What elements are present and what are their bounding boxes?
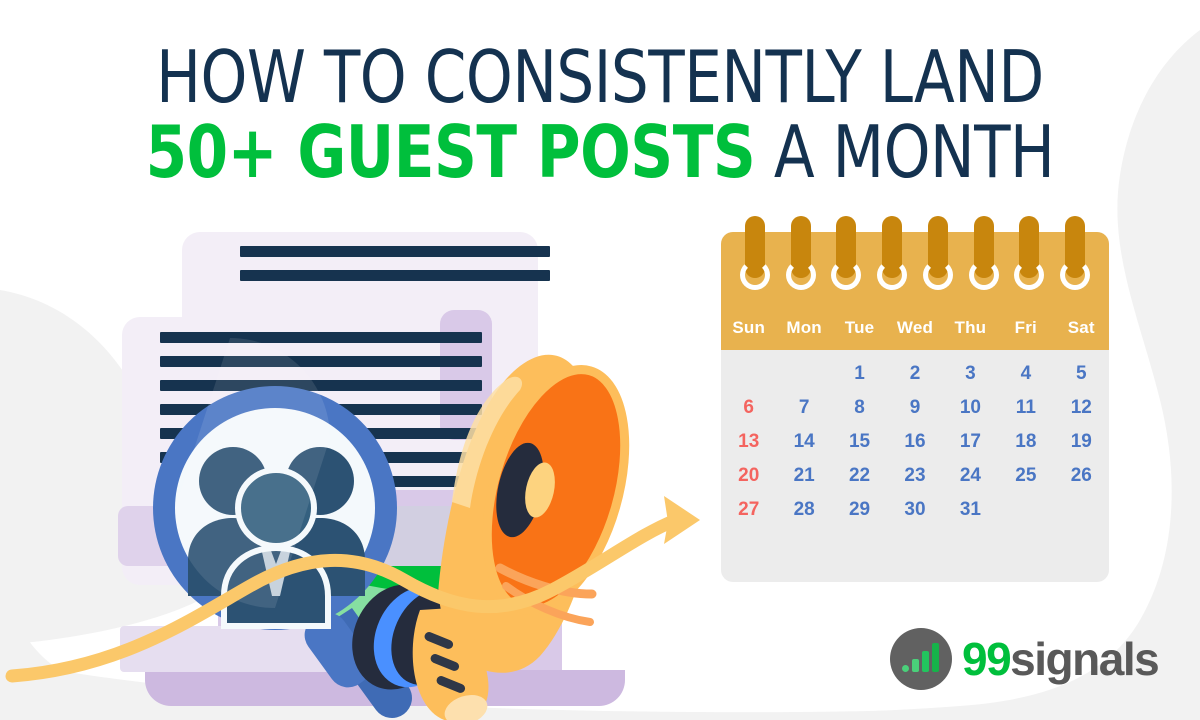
calendar-ring-hole	[969, 260, 999, 290]
calendar-day[interactable]: 29	[832, 493, 887, 527]
calendar-day[interactable]: 24	[943, 459, 998, 493]
calendar-day[interactable]: 1	[832, 357, 887, 391]
calendar-day[interactable]: 22	[832, 459, 887, 493]
calendar-day[interactable]: 16	[887, 425, 942, 459]
calendar-day[interactable]: 28	[776, 493, 831, 527]
calendar-weekday-row: SunMonTueWedThuFriSat	[721, 318, 1109, 348]
calendar-day[interactable]: 6	[721, 391, 776, 425]
calendar-day-grid: 1234567891011121314151617181920212223242…	[721, 357, 1109, 527]
calendar-day[interactable]: 9	[887, 391, 942, 425]
calendar-day[interactable]: 7	[776, 391, 831, 425]
calendar-day[interactable]: 20	[721, 459, 776, 493]
headline-line-1: HOW TO CONSISTENTLY LAND	[48, 42, 1152, 113]
brand-name-second: signals	[1010, 633, 1158, 685]
calendar-weekday-tue: Tue	[832, 318, 887, 348]
calendar-day[interactable]: 27	[721, 493, 776, 527]
calendar-spiral-rings	[721, 216, 1109, 306]
calendar-ring-hole	[923, 260, 953, 290]
calendar-day[interactable]: 23	[887, 459, 942, 493]
calendar-day[interactable]: 13	[721, 425, 776, 459]
calendar-ring-hole	[831, 260, 861, 290]
calendar-day[interactable]: 21	[776, 459, 831, 493]
headline-line-2: 50+ GUEST POSTS A MONTH	[48, 117, 1152, 188]
brand-logo[interactable]: 99signals	[890, 628, 1158, 690]
calendar-day[interactable]: 14	[776, 425, 831, 459]
calendar-widget: SunMonTueWedThuFriSat 123456789101112131…	[721, 232, 1109, 582]
calendar-day[interactable]: 31	[943, 493, 998, 527]
calendar-weekday-fri: Fri	[998, 318, 1053, 348]
calendar-weekday-sat: Sat	[1054, 318, 1109, 348]
page-title: HOW TO CONSISTENTLY LAND 50+ GUEST POSTS…	[0, 42, 1200, 187]
calendar-weekday-mon: Mon	[776, 318, 831, 348]
calendar-day-empty	[998, 493, 1053, 527]
calendar-day-empty	[776, 357, 831, 391]
calendar-day[interactable]: 3	[943, 357, 998, 391]
calendar-day[interactable]: 18	[998, 425, 1053, 459]
calendar-day[interactable]: 8	[832, 391, 887, 425]
poster-canvas: HOW TO CONSISTENTLY LAND 50+ GUEST POSTS…	[0, 0, 1200, 720]
calendar-day[interactable]: 19	[1054, 425, 1109, 459]
calendar-day[interactable]: 25	[998, 459, 1053, 493]
calendar-day[interactable]: 12	[1054, 391, 1109, 425]
calendar-day[interactable]: 11	[998, 391, 1053, 425]
calendar-weekday-sun: Sun	[721, 318, 776, 348]
calendar-day[interactable]: 4	[998, 357, 1053, 391]
calendar-day[interactable]: 26	[1054, 459, 1109, 493]
calendar-day[interactable]: 17	[943, 425, 998, 459]
headline-highlight: 50+ GUEST POSTS	[146, 110, 756, 194]
calendar-weekday-wed: Wed	[887, 318, 942, 348]
calendar-day[interactable]: 10	[943, 391, 998, 425]
calendar-day[interactable]: 2	[887, 357, 942, 391]
calendar-ring-hole	[1060, 260, 1090, 290]
headline-line-2-rest: A MONTH	[755, 110, 1054, 194]
calendar-ring-hole	[1014, 260, 1044, 290]
brand-logo-text: 99signals	[962, 636, 1158, 682]
calendar-day[interactable]: 30	[887, 493, 942, 527]
calendar-day[interactable]: 15	[832, 425, 887, 459]
calendar-weekday-thu: Thu	[943, 318, 998, 348]
calendar-day-empty	[1054, 493, 1109, 527]
brand-name-first: 99	[962, 633, 1010, 685]
calendar-ring-hole	[877, 260, 907, 290]
calendar-day[interactable]: 5	[1054, 357, 1109, 391]
calendar-ring-hole	[786, 260, 816, 290]
calendar-day-empty	[721, 357, 776, 391]
signal-bars-icon	[890, 628, 952, 690]
calendar-ring-hole	[740, 260, 770, 290]
hero-illustration	[0, 190, 720, 720]
